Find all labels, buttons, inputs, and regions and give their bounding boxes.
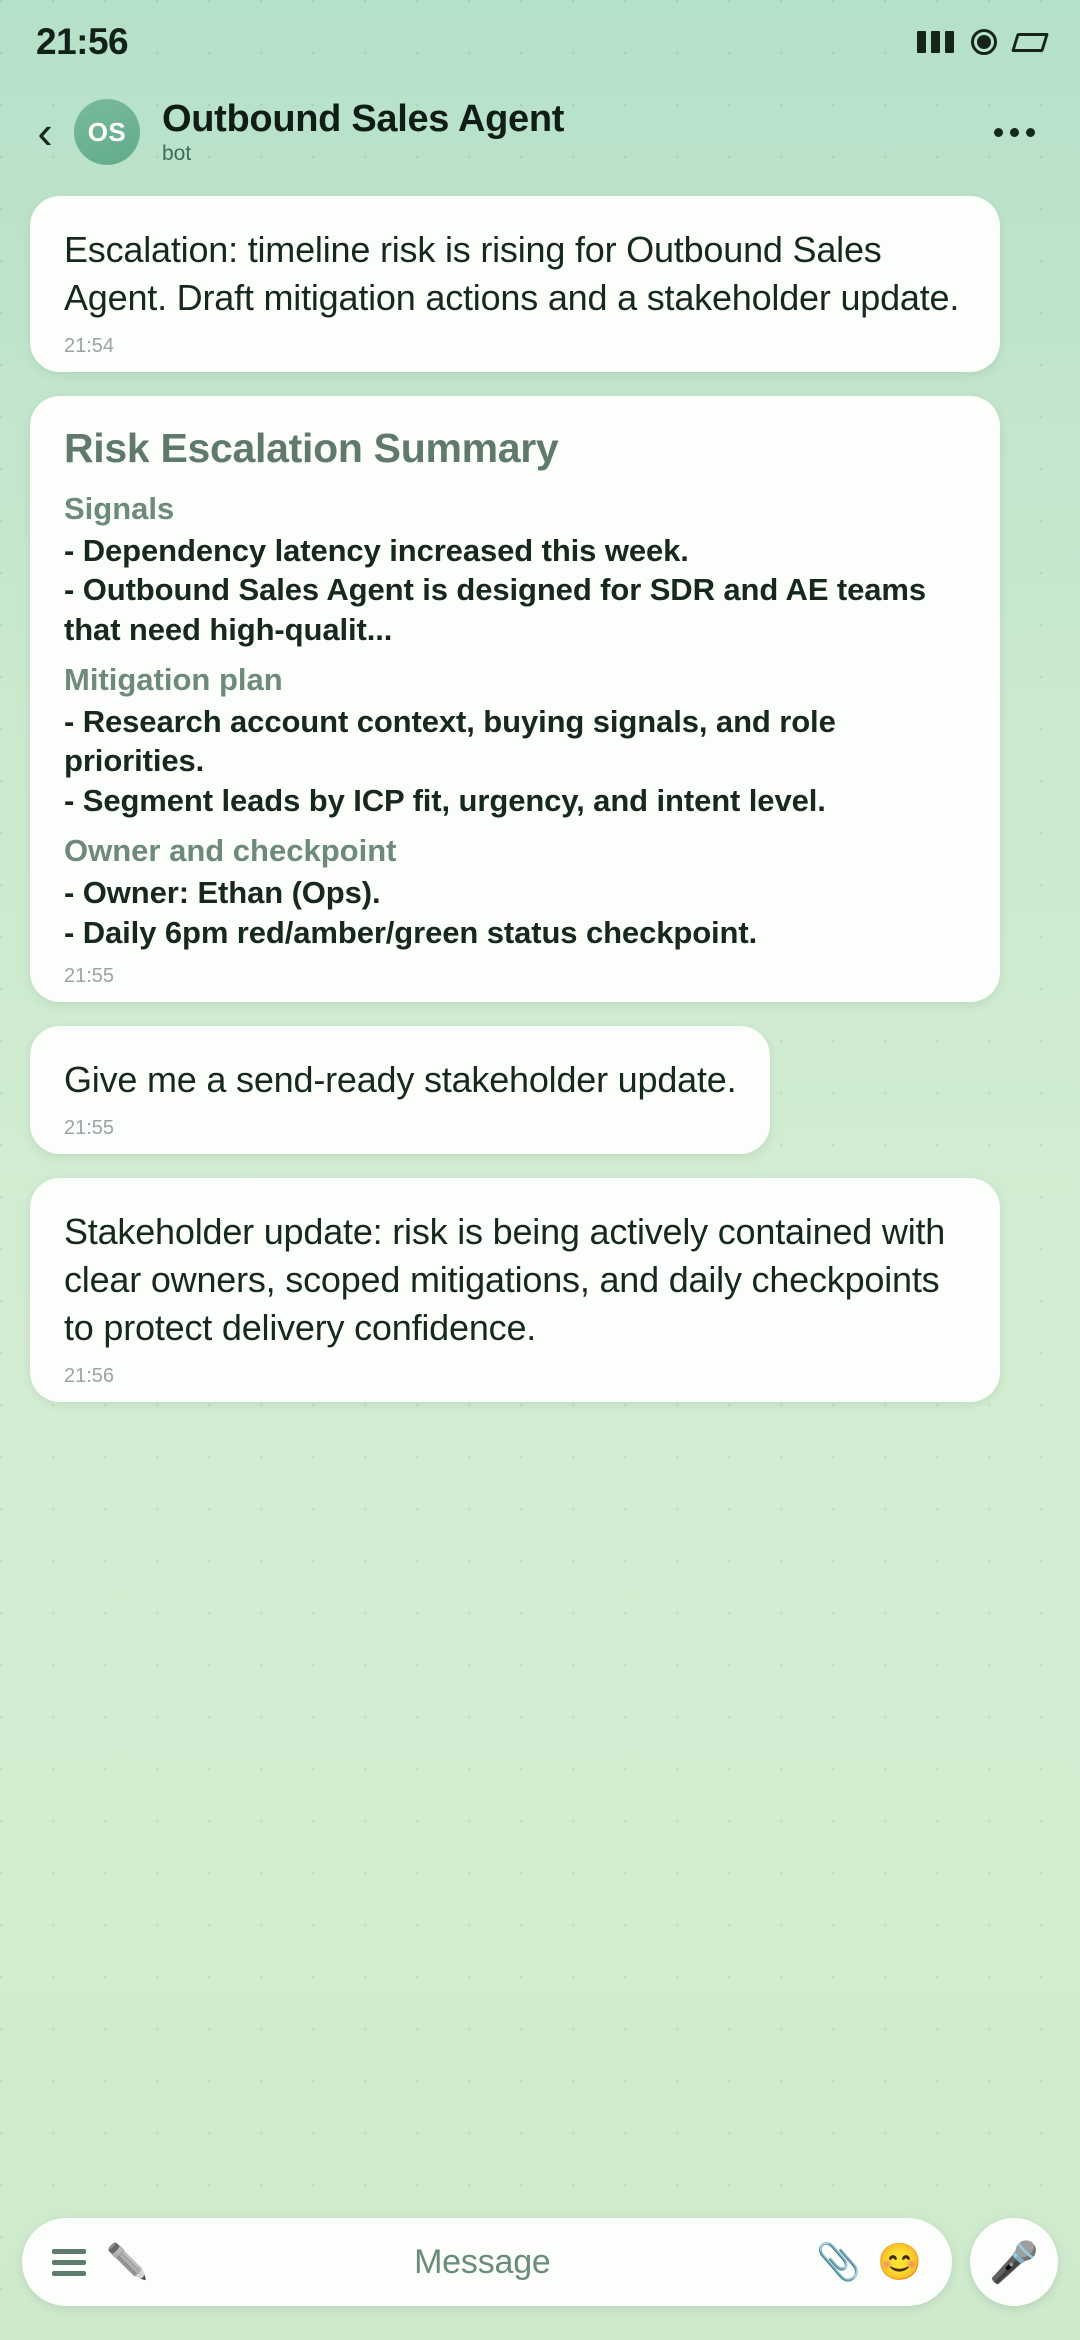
card-section: Owner and checkpoint - Owner: Ethan (Ops… (64, 832, 966, 952)
message-bubble-card[interactable]: Risk Escalation Summary Signals - Depend… (30, 396, 1000, 1002)
search-input[interactable]: Message (148, 2243, 816, 2282)
message-text: Escalation: timeline risk is rising for … (64, 226, 966, 322)
card-title: Risk Escalation Summary (64, 426, 966, 472)
page-title: Outbound Sales Agent (162, 100, 564, 140)
message-text: Give me a send-ready stakeholder update. (64, 1056, 736, 1104)
card-section-heading: Signals (64, 490, 966, 527)
emoji-smiley-icon[interactable]: 😊 (877, 2244, 922, 2280)
message-timestamp: 21:55 (64, 1118, 736, 1138)
message-bubble[interactable]: Stakeholder update: risk is being active… (30, 1178, 1000, 1402)
header-subtitle: bot (162, 143, 564, 164)
status-icon-group (917, 29, 1046, 55)
wifi-icon (971, 29, 997, 55)
card-section-line: - Outbound Sales Agent is designed for S… (64, 570, 966, 649)
chat-header: ‹ OS Outbound Sales Agent bot (0, 84, 1080, 180)
card-section-line: - Segment leads by ICP fit, urgency, and… (64, 781, 966, 820)
back-chevron-icon[interactable]: ‹ (22, 103, 68, 161)
more-options-icon[interactable] (984, 102, 1044, 162)
attach-paperclip-icon[interactable]: 📎 (816, 2244, 861, 2280)
message-list: Escalation: timeline risk is rising for … (0, 196, 1080, 1402)
card-section: Mitigation plan - Research account conte… (64, 661, 966, 820)
message-timestamp: 21:55 (64, 966, 966, 986)
pencil-icon[interactable]: ✏️ (106, 2245, 148, 2279)
message-bubble[interactable]: Give me a send-ready stakeholder update.… (30, 1026, 770, 1154)
microphone-button[interactable]: 🎤 (970, 2218, 1058, 2306)
avatar[interactable]: OS (74, 99, 140, 165)
hamburger-menu-icon[interactable] (52, 2249, 86, 2276)
card-section-heading: Owner and checkpoint (64, 832, 966, 869)
message-bubble[interactable]: Escalation: timeline risk is rising for … (30, 196, 1000, 372)
avatar-initials: OS (88, 117, 127, 148)
message-timestamp: 21:56 (64, 1366, 966, 1386)
card-section-heading: Mitigation plan (64, 661, 966, 698)
message-composer: ✏️ Message 📎 😊 🎤 (0, 2208, 1080, 2316)
message-text: Stakeholder update: risk is being active… (64, 1208, 966, 1352)
signal-bars-icon (917, 31, 954, 53)
battery-icon (1011, 33, 1049, 52)
card-section-line: - Research account context, buying signa… (64, 702, 966, 781)
status-clock: 21:56 (36, 21, 128, 63)
card-section: Signals - Dependency latency increased t… (64, 490, 966, 649)
header-text-group[interactable]: Outbound Sales Agent bot (162, 100, 564, 165)
composer-left-icons: ✏️ (52, 2245, 148, 2279)
card-section-line: - Dependency latency increased this week… (64, 531, 966, 570)
status-bar: 21:56 (0, 0, 1080, 84)
card-section-line: - Owner: Ethan (Ops). (64, 873, 966, 912)
composer-right-icons: 📎 😊 (816, 2244, 922, 2280)
microphone-icon: 🎤 (989, 2239, 1039, 2286)
card-section-line: - Daily 6pm red/amber/green status check… (64, 913, 966, 952)
message-input-pill[interactable]: ✏️ Message 📎 😊 (22, 2218, 952, 2306)
chat-screen: { "status_bar": { "clock": "21:56", "ico… (0, 0, 1080, 2340)
message-timestamp: 21:54 (64, 336, 966, 356)
